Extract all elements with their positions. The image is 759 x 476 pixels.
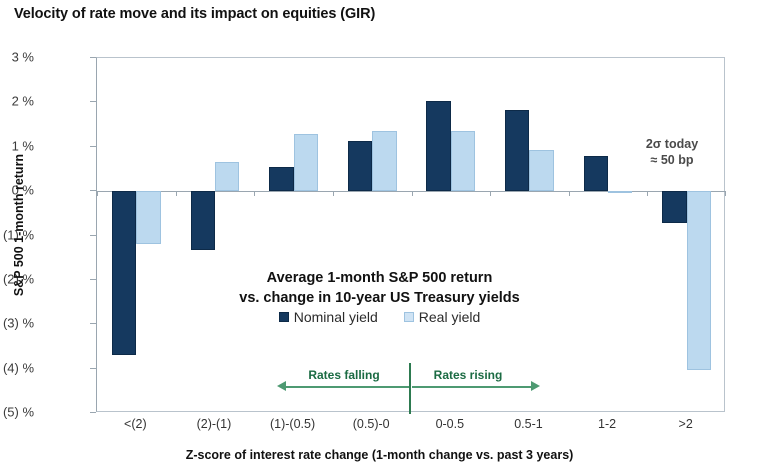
x-tick-mark-4 [412, 191, 413, 196]
bar-nominal-0[interactable] [112, 191, 136, 355]
x-tick-label-4: 0-0.5 [436, 417, 465, 431]
y-tick-mark-8 [90, 412, 96, 413]
bar-real-4[interactable] [451, 131, 475, 191]
legend-item-nominal[interactable]: Nominal yield [279, 309, 378, 325]
bar-real-5[interactable] [529, 150, 553, 191]
bar-real-2[interactable] [294, 134, 318, 191]
x-tick-label-1: (2)-(1) [197, 417, 232, 431]
bar-real-7[interactable] [687, 191, 711, 369]
sigma-line-1: 2σ today [624, 136, 720, 152]
sigma-line-2: ≈ 50 bp [624, 152, 720, 168]
x-tick-mark-1 [176, 191, 177, 196]
bar-real-6[interactable] [608, 191, 632, 193]
x-tick-label-0: <(2) [124, 417, 147, 431]
x-tick-mark-7 [647, 191, 648, 196]
legend-swatch-real-icon [404, 312, 414, 322]
x-tick-mark-5 [490, 191, 491, 196]
bar-nominal-5[interactable] [505, 110, 529, 191]
y-axis-title: S&P 500 1-month return [12, 120, 26, 330]
x-tick-label-7: >2 [679, 417, 693, 431]
legend-label-nominal: Nominal yield [294, 309, 378, 325]
y-tick-label-0: 3 % [12, 50, 34, 65]
x-tick-mark-end [725, 191, 726, 196]
x-tick-mark-3 [333, 191, 334, 196]
bar-real-0[interactable] [136, 191, 160, 244]
x-tick-label-6: 1-2 [598, 417, 616, 431]
plot-area [96, 57, 725, 412]
y-tick-label-8: (5) % [3, 405, 34, 420]
x-tick-mark-0 [97, 191, 98, 196]
bar-nominal-4[interactable] [426, 101, 450, 191]
y-tick-label-7: (4) % [3, 360, 34, 375]
bar-real-1[interactable] [215, 162, 239, 191]
bar-nominal-7[interactable] [662, 191, 686, 223]
bar-nominal-1[interactable] [191, 191, 215, 250]
bar-nominal-6[interactable] [584, 156, 608, 192]
sigma-annotation: 2σ today ≈ 50 bp [624, 136, 720, 168]
chart-legend: Nominal yield Real yield [0, 309, 759, 325]
bar-real-3[interactable] [372, 131, 396, 191]
x-tick-label-5: 0.5-1 [514, 417, 543, 431]
bar-nominal-3[interactable] [348, 141, 372, 191]
x-tick-label-2: (1)-(0.5) [270, 417, 315, 431]
x-tick-mark-2 [254, 191, 255, 196]
legend-label-real: Real yield [419, 309, 480, 325]
x-axis-title: Z-score of interest rate change (1-month… [0, 448, 759, 462]
legend-swatch-nominal-icon [279, 312, 289, 322]
x-tick-label-3: (0.5)-0 [353, 417, 390, 431]
legend-item-real[interactable]: Real yield [404, 309, 480, 325]
x-tick-mark-6 [569, 191, 570, 196]
bar-nominal-2[interactable] [269, 167, 293, 191]
y-tick-label-1: 2 % [12, 94, 34, 109]
